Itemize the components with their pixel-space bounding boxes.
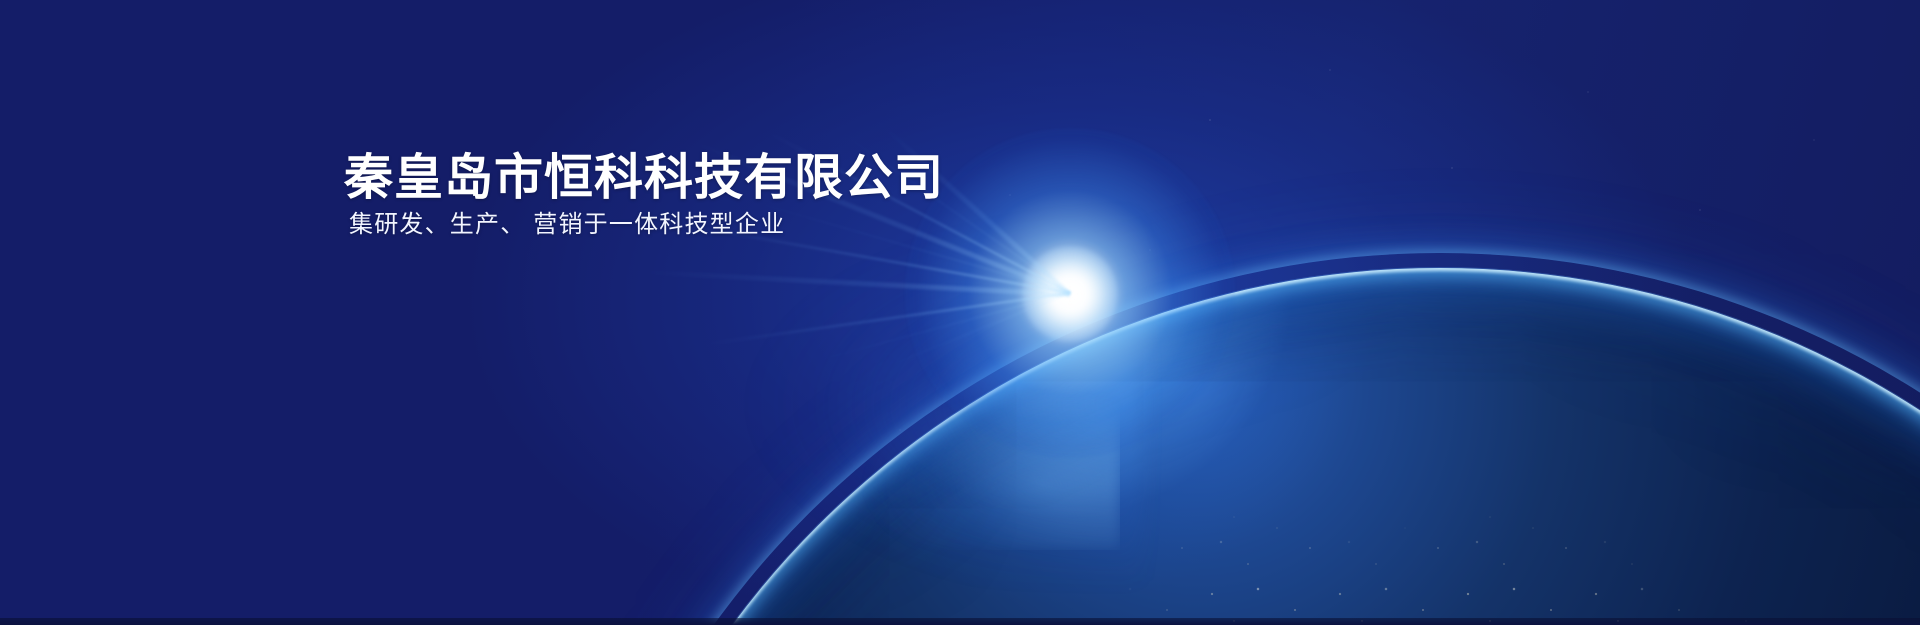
- earth-globe: [560, 268, 1920, 625]
- globe-container: [0, 0, 1920, 625]
- company-headline: 秦皇岛市恒科科技有限公司: [344, 148, 944, 208]
- bottom-edge-strip: [0, 618, 1920, 625]
- hero-banner: 秦皇岛市恒科科技有限公司 集研发、生产、 营销于一体科技型企业: [0, 0, 1920, 625]
- banner-copy: 秦皇岛市恒科科技有限公司 集研发、生产、 营销于一体科技型企业: [344, 148, 944, 242]
- company-subheadline: 集研发、生产、 营销于一体科技型企业: [344, 208, 944, 242]
